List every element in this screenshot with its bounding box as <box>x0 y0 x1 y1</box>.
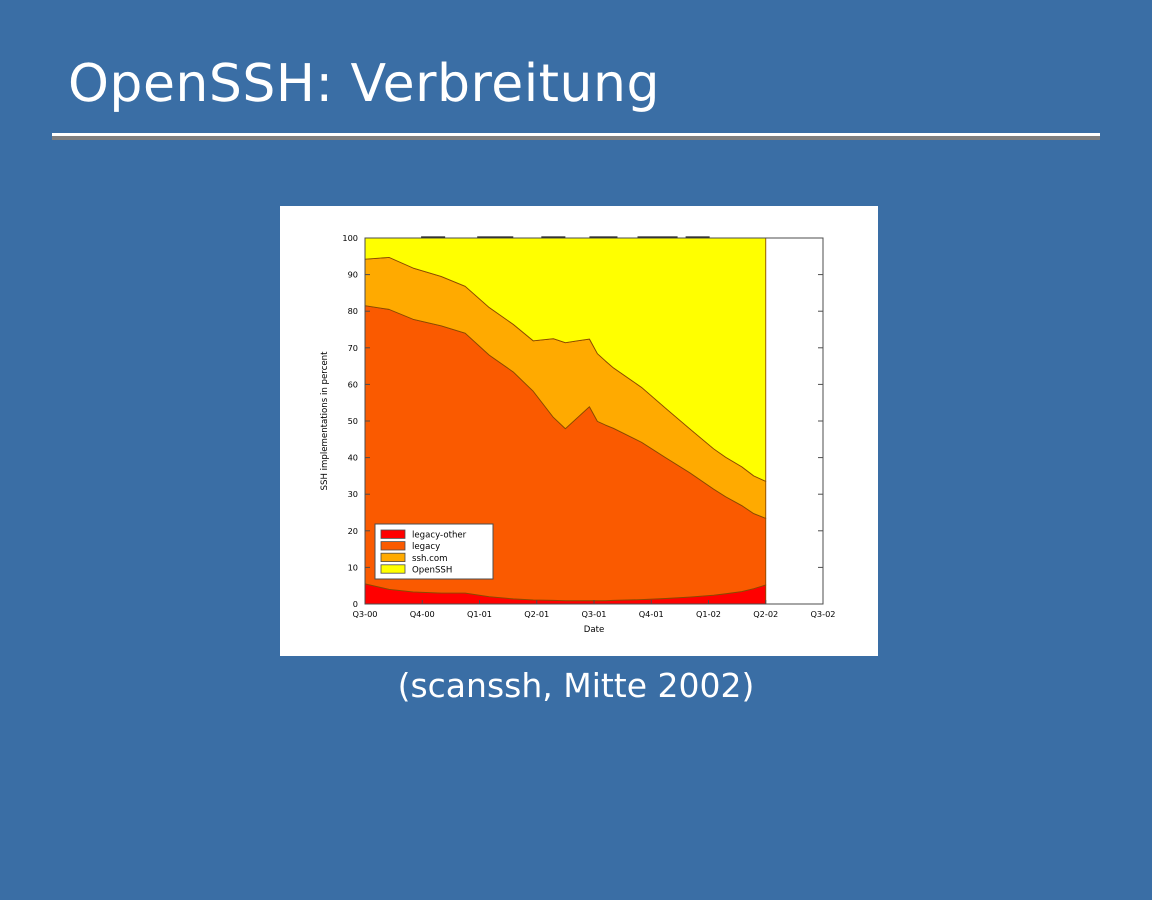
x-tick-label: Q3-01 <box>581 609 606 619</box>
y-tick-label: 50 <box>348 416 358 426</box>
legend-label: OpenSSH <box>412 565 452 575</box>
presentation-slide: OpenSSH: Verbreitung 0102030405060708090… <box>0 0 1152 900</box>
page-title: OpenSSH: Verbreitung <box>68 58 660 110</box>
y-tick-label: 70 <box>348 343 358 353</box>
x-tick-label: Q1-01 <box>467 609 492 619</box>
x-tick-label: Q4-00 <box>410 609 435 619</box>
x-tick-label: Q1-02 <box>696 609 721 619</box>
legend-swatch <box>381 565 405 573</box>
y-axis-title: SSH implementations in percent <box>320 351 330 491</box>
y-tick-label: 100 <box>342 233 358 243</box>
y-tick-label: 20 <box>348 526 358 536</box>
y-tick-label: 30 <box>348 489 358 499</box>
title-divider <box>52 133 1100 140</box>
legend-label: legacy-other <box>412 531 467 541</box>
y-tick-label: 90 <box>348 270 358 280</box>
x-tick-label: Q4-01 <box>639 609 664 619</box>
x-tick-label: Q2-02 <box>753 609 778 619</box>
x-axis-title: Date <box>584 625 605 635</box>
x-tick-label: Q3-00 <box>352 609 377 619</box>
legend-swatch <box>381 530 405 538</box>
y-tick-label: 10 <box>348 562 358 572</box>
legend-swatch <box>381 553 405 561</box>
y-tick-label: 80 <box>348 306 358 316</box>
legend-label: ssh.com <box>412 554 448 564</box>
x-tick-label: Q2-01 <box>524 609 549 619</box>
stacked-area-chart: 0102030405060708090100Q3-00Q4-00Q1-01Q2-… <box>280 206 878 656</box>
figure-caption: (scanssh, Mitte 2002) <box>0 666 1152 705</box>
y-tick-label: 0 <box>353 599 358 609</box>
legend-swatch <box>381 542 405 550</box>
chart-figure: 0102030405060708090100Q3-00Q4-00Q1-01Q2-… <box>280 206 878 656</box>
x-tick-label: Q3-02 <box>810 609 835 619</box>
legend-label: legacy <box>412 542 440 552</box>
y-tick-label: 60 <box>348 379 358 389</box>
y-tick-label: 40 <box>348 453 358 463</box>
